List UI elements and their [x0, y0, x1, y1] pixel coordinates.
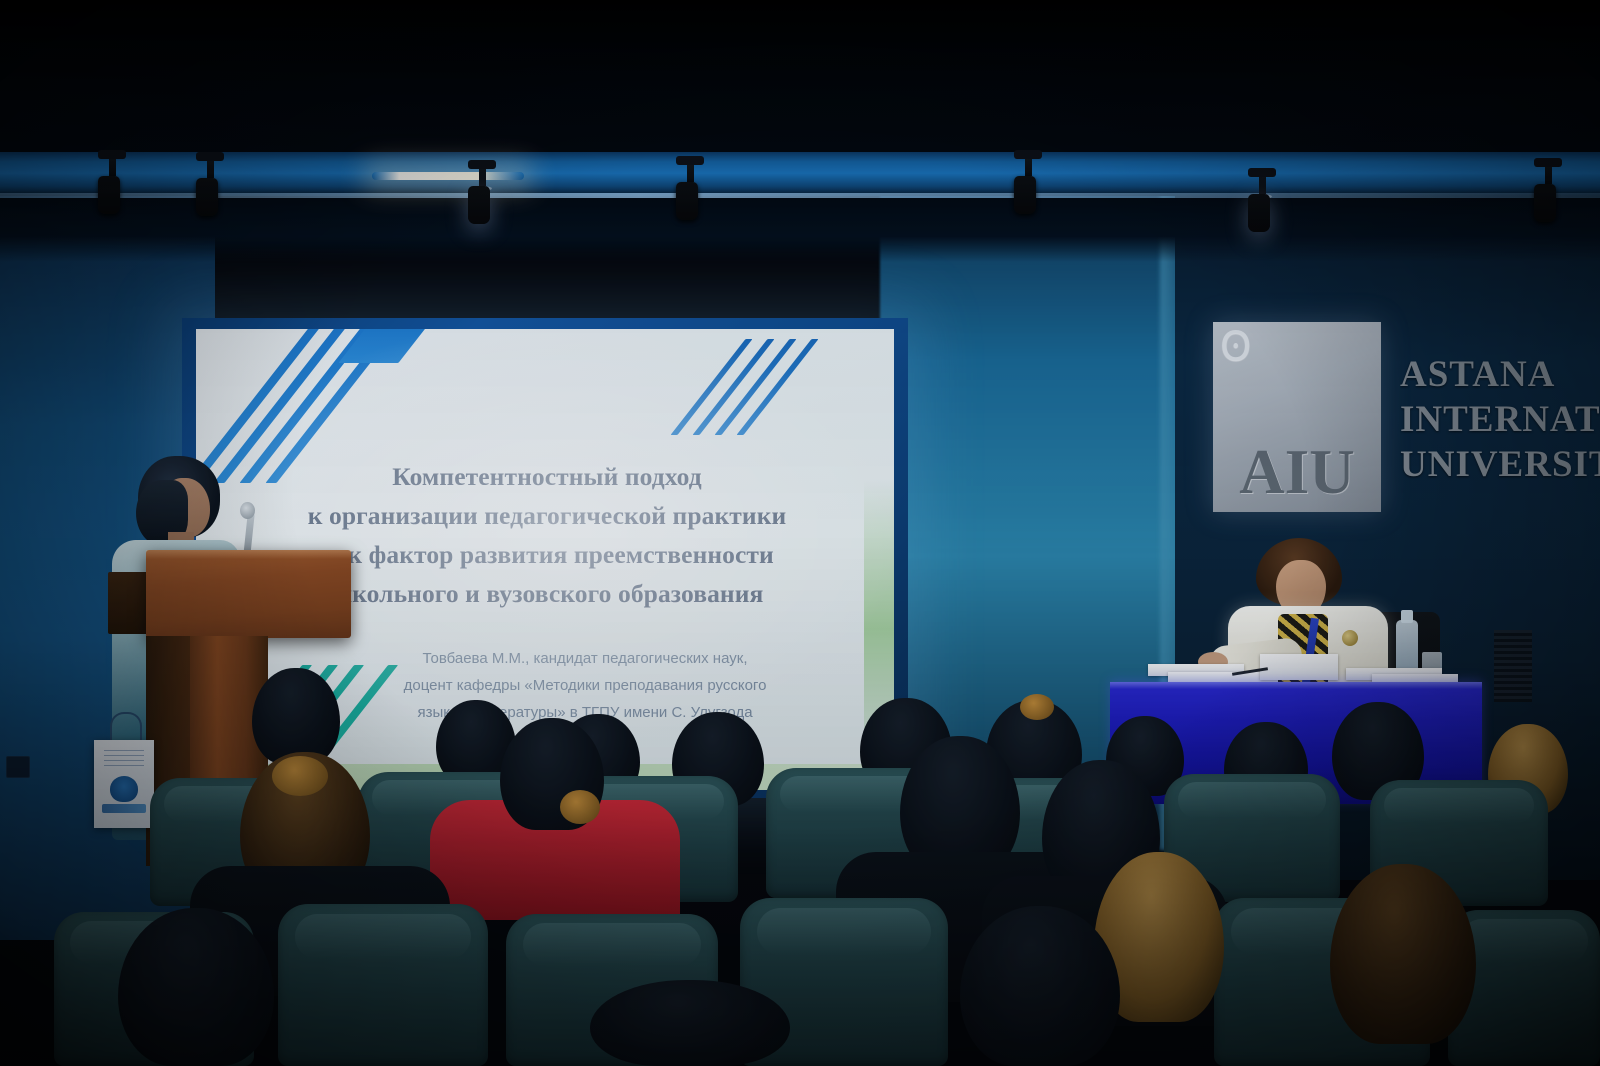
track-spotlight-icon	[196, 152, 224, 178]
audience-hair-clip	[1020, 694, 1054, 720]
track-spotlight-icon	[468, 160, 496, 191]
audience-hair-tie	[560, 790, 600, 824]
track-spotlight-icon	[1248, 168, 1276, 199]
fluorescent-tube-icon	[372, 172, 524, 180]
track-spotlight-icon	[1014, 150, 1042, 176]
tote-bag-wordmark	[102, 804, 146, 813]
track-spotlight-icon	[676, 156, 704, 182]
microphone-head-icon	[240, 502, 255, 519]
ceiling-void	[0, 198, 1600, 262]
decorative-stripes-blue-top-right	[708, 339, 888, 435]
slide-subtitle: Товбаева М.М., кандидат педагогических н…	[316, 645, 854, 726]
power-outlet-icon	[6, 756, 30, 778]
audience-head	[960, 906, 1120, 1066]
audience-hair-clip	[272, 756, 328, 796]
auditorium-seat	[278, 904, 488, 1066]
slide-subtitle-line-2: доцент кафедры «Методики преподавания ру…	[316, 672, 854, 699]
tote-bag-text-lines	[104, 750, 144, 770]
aiu-plaque-letters: AIU	[1213, 441, 1381, 504]
aiu-wordmark: ASTANA INTERNATIONAL UNIVERSITY	[1400, 352, 1600, 487]
auditorium-photo: Компетентностный подход к организации пе…	[0, 0, 1600, 1066]
ceiling	[0, 0, 1600, 152]
aiu-logo-plaque: ʘ AIU	[1213, 322, 1381, 512]
lectern-top	[146, 550, 351, 638]
audience-head	[118, 908, 274, 1066]
audience-head	[1330, 864, 1476, 1044]
wordmark-line-2: INTERNATIONAL	[1400, 397, 1600, 442]
ornament-icon: ʘ	[1220, 327, 1266, 367]
tote-bag	[94, 740, 154, 828]
wordmark-line-3: UNIVERSITY	[1400, 442, 1600, 487]
wordmark-line-1: ASTANA	[1400, 352, 1600, 397]
slide-subtitle-line-1: Товбаева М.М., кандидат педагогических н…	[316, 645, 854, 672]
audience-head	[590, 980, 790, 1066]
track-spotlight-icon	[98, 150, 126, 176]
moderator-brooch-icon	[1342, 630, 1358, 646]
vent-grille-icon	[1494, 630, 1532, 702]
track-spotlight-icon	[1534, 158, 1562, 184]
ceiling-soffit	[0, 152, 1600, 196]
audience-head	[252, 668, 340, 764]
tote-bag-emblem-icon	[110, 776, 138, 802]
